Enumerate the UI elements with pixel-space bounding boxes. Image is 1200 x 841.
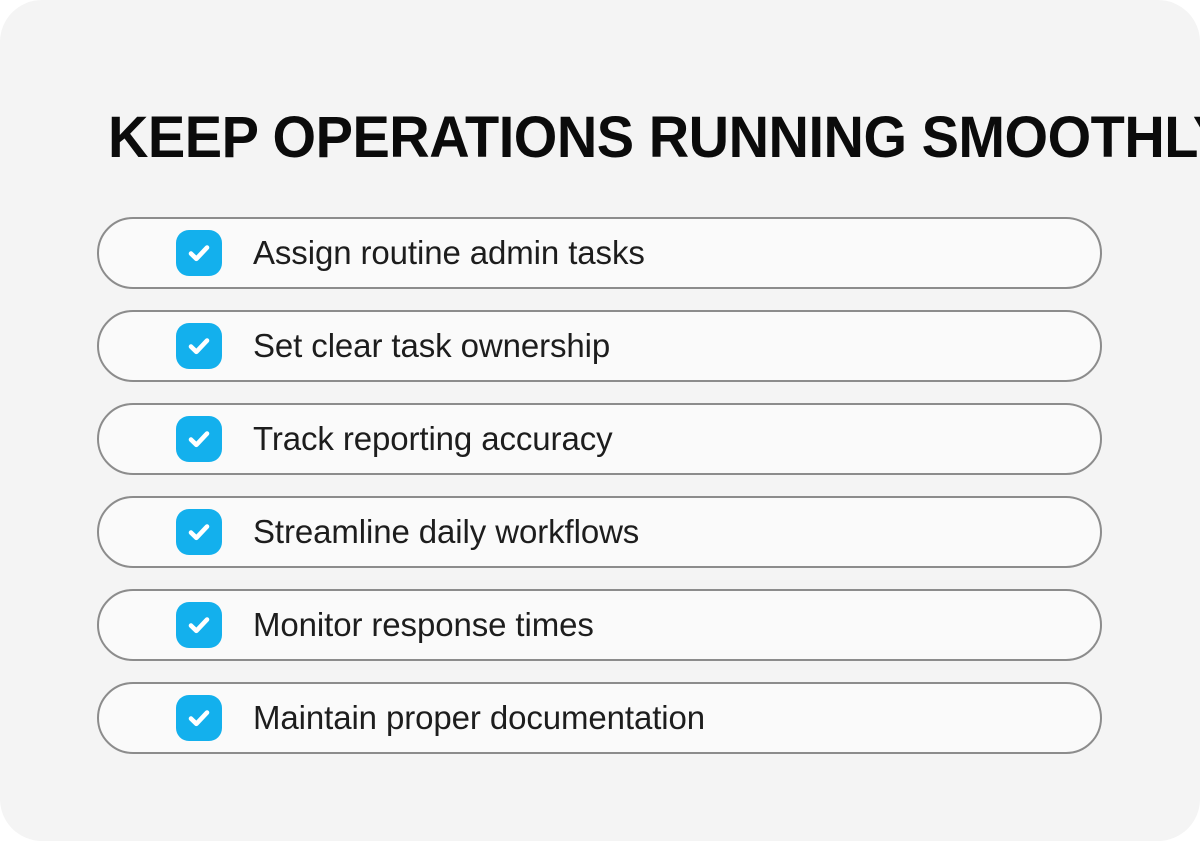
checklist-card: KEEP OPERATIONS RUNNING SMOOTHLY Assign … — [0, 0, 1200, 841]
checklist-item[interactable]: Maintain proper documentation — [97, 682, 1102, 754]
checkbox-checked-icon[interactable] — [176, 602, 222, 648]
checklist-item[interactable]: Set clear task ownership — [97, 310, 1102, 382]
checklist-item[interactable]: Streamline daily workflows — [97, 496, 1102, 568]
checklist-item[interactable]: Monitor response times — [97, 589, 1102, 661]
checklist-item-label: Streamline daily workflows — [253, 513, 639, 551]
checkbox-checked-icon[interactable] — [176, 695, 222, 741]
checklist-item[interactable]: Assign routine admin tasks — [97, 217, 1102, 289]
checklist-item-label: Track reporting accuracy — [253, 420, 613, 458]
checklist: Assign routine admin tasks Set clear tas… — [97, 217, 1102, 754]
checklist-item-label: Set clear task ownership — [253, 327, 610, 365]
checkbox-checked-icon[interactable] — [176, 416, 222, 462]
page-title: KEEP OPERATIONS RUNNING SMOOTHLY — [108, 105, 1063, 171]
checklist-item-label: Maintain proper documentation — [253, 699, 705, 737]
checklist-item-label: Monitor response times — [253, 606, 594, 644]
checklist-item-label: Assign routine admin tasks — [253, 234, 645, 272]
checkbox-checked-icon[interactable] — [176, 323, 222, 369]
checkbox-checked-icon[interactable] — [176, 509, 222, 555]
checkbox-checked-icon[interactable] — [176, 230, 222, 276]
checklist-item[interactable]: Track reporting accuracy — [97, 403, 1102, 475]
